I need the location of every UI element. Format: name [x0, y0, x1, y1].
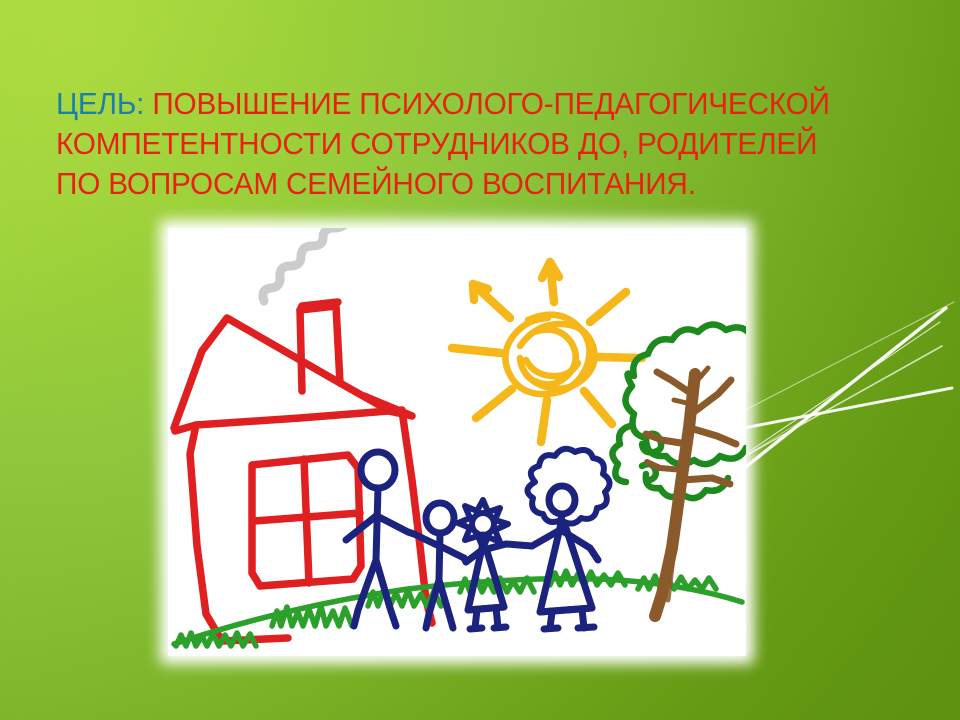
title-accent-label: ЦЕЛЬ: [56, 86, 144, 121]
slide-title: ЦЕЛЬ: ПОВЫШЕНИЕ ПСИХОЛОГО-ПЕДАГОГИЧЕСКОЙ… [56, 84, 926, 204]
slide-canvas: ЦЕЛЬ: ПОВЫШЕНИЕ ПСИХОЛОГО-ПЕДАГОГИЧЕСКОЙ… [0, 0, 960, 720]
title-line-3: ПО ВОПРОСАМ СЕМЕЙНОГО ВОСПИТАНИЯ. [56, 164, 891, 204]
sun-icon [452, 262, 642, 442]
chimney-smoke-icon [263, 228, 357, 301]
title-line-2: КОМПЕТЕНТНОСТИ СОТРУДНИКОВ ДО, РОДИТЕЛЕЙ [56, 124, 891, 164]
title-line-1-rest: ПОВЫШЕНИЕ ПСИХОЛОГО-ПЕДАГОГИЧЕСКОЙ [144, 86, 830, 121]
title-line-1: ЦЕЛЬ: ПОВЫШЕНИЕ ПСИХОЛОГО-ПЕДАГОГИЧЕСКОЙ [56, 84, 891, 124]
tree-icon [612, 324, 746, 616]
figure-mother [527, 449, 609, 629]
family-group [346, 449, 610, 629]
childs-drawing [168, 228, 746, 656]
illustration-card [168, 228, 746, 656]
